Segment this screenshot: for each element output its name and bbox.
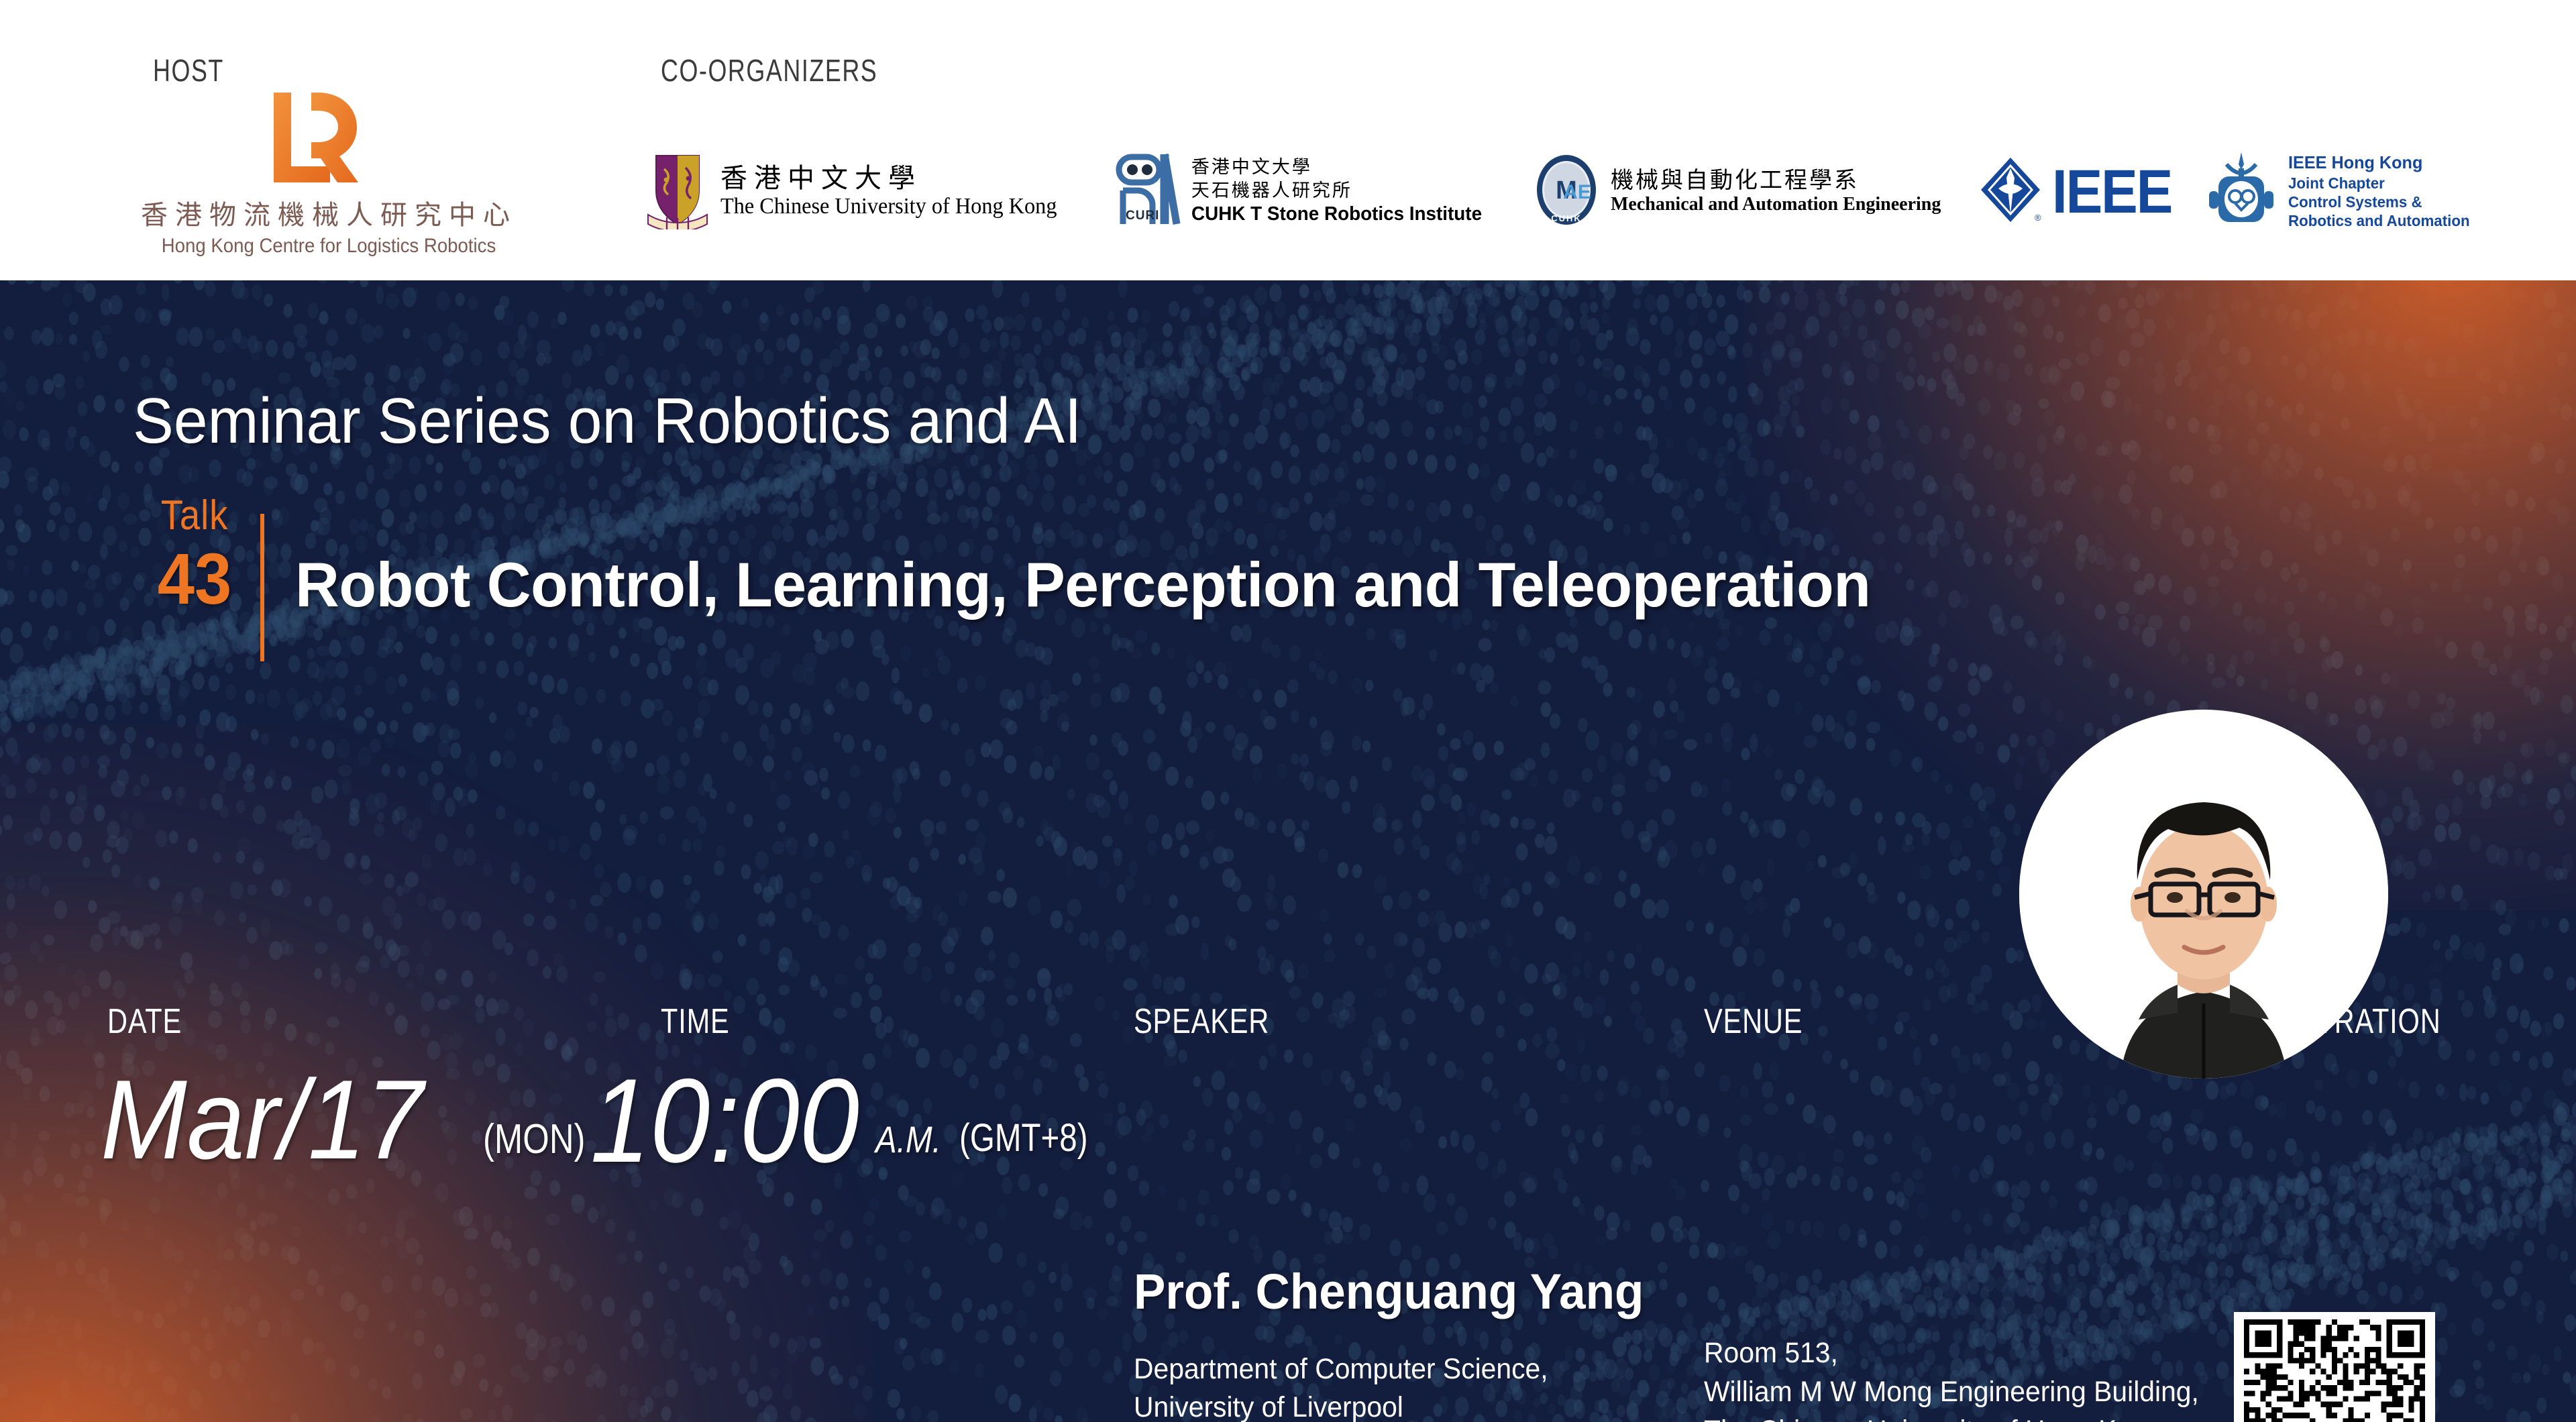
speaker-label: SPEAKER [1134,1001,1269,1042]
svg-text:®: ® [2035,213,2041,223]
venue-label: VENUE [1704,1001,1803,1042]
registration-qr-code[interactable] [2234,1312,2435,1422]
coorganizer-ieee-hk: IEEE Hong Kong Joint Chapter Control Sys… [2204,150,2475,233]
ieee-diamond-icon: ® [1978,155,2043,228]
seminar-poster: HOST CO-ORGANIZERS 香港物流機械人研究中心 Hong Kong [0,0,2576,1422]
host-logo-block: 香港物流機械人研究中心 Hong Kong Centre for Logisti… [141,87,517,258]
host-label: HOST [153,52,224,89]
coorganizers-label: CO-ORGANIZERS [661,52,877,89]
ieee-wordmark: IEEE [2052,155,2171,227]
lr-monogram-icon [262,87,396,188]
speaker-affiliation-line-1: Department of Computer Science, [1134,1350,1548,1388]
speaker-affiliation-line-2: University of Liverpool [1134,1388,1548,1422]
curi-name-en: CUHK T Stone Robotics Institute [1191,203,1482,226]
talk-number: 43 [139,541,250,616]
time-meridiem: A.M. [875,1117,941,1161]
time-label: TIME [661,1001,730,1042]
speaker-portrait [2019,710,2388,1079]
talk-word: Talk [142,495,248,537]
header-band: HOST CO-ORGANIZERS 香港物流機械人研究中心 Hong Kong [0,0,2576,280]
curi-name-cn-1: 香港中文大學 [1191,156,1494,180]
ieee-hk-line-4: Robotics and Automation [2288,211,2470,230]
coorganizer-mae: M AE CUHK 機械與自動化工程學系 Mechanical and Auto… [1532,150,1941,233]
time-timezone: (GMT+8) [959,1115,1088,1160]
speaker-name: Prof. Chenguang Yang [1134,1263,1644,1320]
date-value: Mar/17 [101,1055,423,1185]
speaker-affiliation: Department of Computer Science, Universi… [1134,1350,1548,1422]
coorganizer-ieee: ® IEEE [1978,155,2166,228]
venue-line-2: William M W Mong Engineering Building, [1704,1372,2199,1411]
series-title: Seminar Series on Robotics and AI [133,384,1081,458]
ieee-hk-line-3: Control Systems & [2288,193,2470,211]
svg-text:CUHK: CUHK [1551,213,1582,223]
cuhk-name-cn: 香港中文大學 [720,163,1075,194]
venue-line-3: The Chinese University of Hong Kong [1704,1411,2199,1422]
talk-title: Robot Control, Learning, Perception and … [295,549,1870,621]
curi-name-cn-2: 天石機器人研究所 [1191,180,1494,203]
svg-text:CURI: CURI [1126,209,1159,223]
coorganizers-row: 香港中文大學 The Chinese University of Hong Ko… [644,131,2475,252]
talk-badge: Talk 43 [134,495,255,616]
date-weekday: (MON) [483,1115,585,1163]
main-panel: Seminar Series on Robotics and AI Talk 4… [0,280,2576,1422]
ieee-hk-line-2: Joint Chapter [2288,174,2470,193]
talk-divider-rule [260,514,264,661]
mae-seal-icon: M AE CUHK [1532,150,1601,233]
cuhk-crest-icon [644,150,711,233]
venue-line-1: Room 513, [1704,1333,2199,1372]
mae-name-cn: 機械與自動化工程學系 [1611,167,1941,195]
date-label: DATE [107,1001,182,1042]
ieee-hk-line-1: IEEE Hong Kong [2288,152,2470,174]
ieee-hk-robot-icon [2204,150,2279,233]
venue-address: Room 513, William M W Mong Engineering B… [1704,1333,2199,1422]
coorganizer-curi: CURI 香港中文大學 天石機器人研究所 CUHK T Stone Roboti… [1112,150,1494,233]
svg-text:AE: AE [1563,181,1591,203]
mae-name-en: Mechanical and Automation Engineering [1611,194,1941,215]
host-name-cn: 香港物流機械人研究中心 [141,193,517,232]
cuhk-name-en: The Chinese University of Hong Kong [720,194,1057,219]
time-value: 10:00 [590,1052,859,1189]
host-name-en: Hong Kong Centre for Logistics Robotics [156,235,501,258]
coorganizer-cuhk: 香港中文大學 The Chinese University of Hong Ko… [644,150,1075,233]
curi-robot-icon: CURI [1112,150,1182,233]
